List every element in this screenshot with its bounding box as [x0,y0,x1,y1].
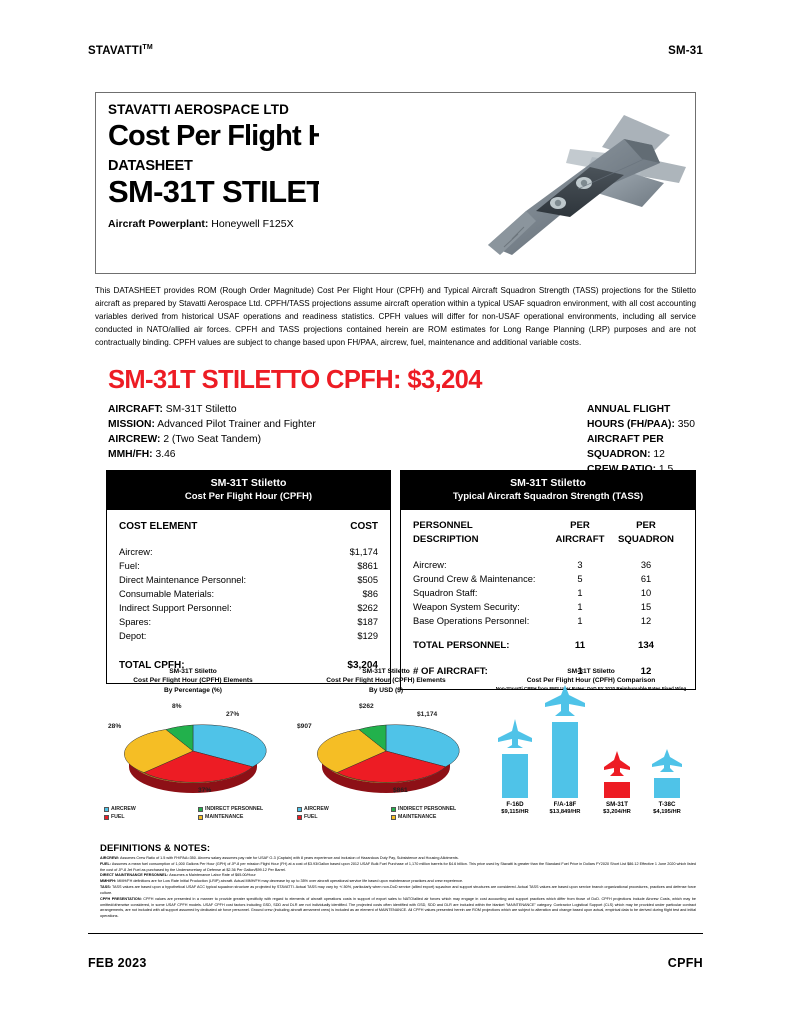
total-personnel-per-squadron: 134 [609,639,683,653]
spec-value: 3.46 [155,449,175,460]
pie-value-label: $907 [297,723,312,730]
definition-text: TASS values are based upon a hypothetica… [100,885,696,895]
legend-item: AIRCREW [297,806,385,812]
legend-swatch-aircrew [104,807,109,812]
legend-label: MAINTENANCE [205,814,243,820]
personnel-desc: Ground Crew & Maintenance: [413,573,551,587]
chart-cpfh-by-percentage: SM-31T Stiletto Cost Per Flight Hour (CP… [100,667,286,820]
spacer [413,548,683,559]
bar-value: $4,195/HR [644,809,690,817]
bar-label: SM-31T [594,801,640,809]
spec-row: AIRCREW: 2 (Two Seat Tandem) [108,433,402,448]
cost-element: Depot: [119,630,146,644]
cpfh-column-headers: COST ELEMENT COST [119,519,378,534]
definition-text: Assumes Crew Ratio of 1.5 with FH/PAA=35… [119,856,459,860]
definition-text: MMH/FH definitions are for Low Rate Init… [116,879,463,883]
legend-item: FUEL [297,814,385,820]
aircraft-render-image [474,105,689,265]
spec-value: Advanced Pilot Trainer and Fighter [155,419,316,430]
definition-item: CPFH PRESENTATION: CPFH values are prese… [100,897,696,920]
pie-value-label: $262 [359,703,374,710]
pie-value-label: 27% [226,711,239,718]
cost-element: Aircrew: [119,546,153,560]
legend-item: MAINTENANCE [391,814,479,820]
spec-row: MISSION: Advanced Pilot Trainer and Figh… [108,418,402,433]
tass-col-per-squadron: PERSQUADRON [609,519,683,548]
chart-subtitle-note: Non-Stavatti CPFH from FMS User Rates: D… [486,686,696,692]
personnel-desc: Base Operations Personnel: [413,615,551,629]
bar-value: $13,849/HR [542,809,588,817]
tass-table-title: SM-31T Stiletto [405,477,691,491]
per-aircraft: 5 [551,573,609,587]
personnel-desc: Weapon System Security: [413,601,551,615]
bar-fa18f [552,722,578,798]
personnel-desc: Squadron Staff: [413,587,551,601]
personnel-desc: Aircrew: [413,559,551,573]
chart-legend: AIRCREW INDIRECT PERSONNEL FUEL MAINTENA… [293,806,479,820]
cost-value: $1,174 [350,546,378,560]
cpfh-col-cost: COST [350,519,378,534]
per-squadron: 36 [609,559,683,573]
page-footer: FEB 2023 CPFH [88,956,703,970]
spec-label: ANNUAL FLIGHT HOURS (FH/PAA): [587,404,675,430]
tass-table-header: SM-31T Stiletto Typical Aircraft Squadro… [401,471,695,510]
table-row: Aircrew:$1,174 [119,546,378,560]
table-row: Direct Maintenance Personnel:$505 [119,574,378,588]
title-block: STAVATTI AEROSPACE LTD Cost Per Flight H… [95,92,319,274]
table-row: Spares:$187 [119,616,378,630]
definition-term: DIRECT MAINTENANCE PERSONNEL: [100,873,168,877]
cost-value: $262 [357,602,378,616]
cpfh-table-body: COST ELEMENT COST Aircrew:$1,174 Fuel:$8… [107,510,390,683]
cost-element: Fuel: [119,560,140,574]
spec-value: 2 (Two Seat Tandem) [163,434,261,445]
legend-label: AIRCREW [111,806,136,812]
definition-text: Assumes a Maintenance Labor Rate of $65.… [168,873,255,877]
table-row: Indirect Support Personnel:$262 [119,602,378,616]
definition-item: TASS: TASS values are based upon a hypot… [100,885,696,897]
per-squadron: 61 [609,573,683,587]
table-row: Consumable Materials:$86 [119,588,378,602]
footer-date: FEB 2023 [88,956,147,970]
bar-f16d [502,754,528,798]
total-personnel-label: TOTAL PERSONNEL: [413,639,551,653]
per-aircraft: 1 [551,587,609,601]
bar-group-fa18f: F/A-18F $13,849/HR [542,685,588,817]
definition-term: MMH/FH: [100,879,116,883]
legend-label: AIRCREW [304,806,329,812]
tass-table: SM-31T Stiletto Typical Aircraft Squadro… [400,470,696,690]
powerplant-line: Aircraft Powerplant: Honeywell F125X [108,218,319,230]
definition-text: CPFH values are presented in a manner to… [100,897,696,918]
spacer [413,654,683,665]
legend-swatch-maintenance [391,815,396,820]
cpfh-table-title: SM-31T Stiletto [111,477,386,491]
t38-jet-icon [644,749,690,773]
bar-group-sm31t: SM-31T $3,204/HR [594,751,640,817]
definitions-and-notes: DEFINITIONS & NOTES: AIRCREW: Assumes Cr… [100,843,696,920]
pie-value-label: $1,174 [417,711,437,718]
pie-plot-area: 27% 37% 28% 8% [100,699,286,802]
aircraft-model-title: SM-31T STILETTO [108,176,319,209]
legend-item: INDIRECT PERSONNEL [198,806,286,812]
legend-swatch-indirect-personnel [198,807,203,812]
cost-value: $505 [357,574,378,588]
bar-value: $9,115/HR [492,809,538,817]
company-name: STAVATTI AEROSPACE LTD [108,102,319,117]
page-header: STAVATTITM SM-31 [88,44,703,57]
legend-label: INDIRECT PERSONNEL [398,806,456,812]
spec-row: MMH/FH: 3.46 [108,448,402,463]
spec-value: 350 [678,419,695,430]
cpfh-table-subtitle: Cost Per Flight Hour (CPFH) [111,491,386,503]
cost-element: Consumable Materials: [119,588,214,602]
intro-paragraph: This DATASHEET provides ROM (Rough Order… [95,284,696,350]
header-doc-code: SM-31 [668,45,703,57]
spec-value: SM-31T Stiletto [166,404,237,415]
chart-legend: AIRCREW INDIRECT PERSONNEL FUEL MAINTENA… [100,806,286,820]
spec-row: AIRCRAFT PER SQUADRON: 12 [587,433,696,463]
title-block-image-panel [319,92,696,274]
legend-swatch-maintenance [198,815,203,820]
legend-item: AIRCREW [104,806,192,812]
per-aircraft: 1 [551,615,609,629]
header-brand: STAVATTITM [88,44,153,57]
bar-label: T-38C [644,801,690,809]
chart-title: SM-31T Stiletto Cost Per Flight Hour (CP… [486,667,696,686]
cost-value: $187 [357,616,378,630]
bar-group-t38c: T-38C $4,195/HR [644,749,690,817]
legend-swatch-fuel [104,815,109,820]
footer-divider [88,933,703,934]
bar-plot-area: F-16D $9,115/HR F/A-18F $13,849/HR SM-31… [486,698,696,816]
document-type: DATASHEET [108,158,319,174]
cpfh-col-element: COST ELEMENT [119,519,197,534]
tass-total-personnel-row: TOTAL PERSONNEL: 11 134 [413,639,683,653]
pie-value-label: 8% [172,703,182,710]
bar-sm31t [604,782,630,798]
chart-cpfh-comparison: SM-31T Stiletto Cost Per Flight Hour (CP… [486,667,696,816]
per-aircraft: 1 [551,601,609,615]
cost-element: Indirect Support Personnel: [119,602,232,616]
tass-column-headers: PERSONNELDESCRIPTION PERAIRCRAFT PERSQUA… [413,519,683,548]
per-squadron: 12 [609,615,683,629]
pie-plot-area: $1,174 $861 $907 $262 [293,699,479,802]
powerplant-value: Honeywell F125X [211,218,293,230]
table-row: Depot:$129 [119,630,378,644]
spec-label: AIRCRAFT: [108,404,163,415]
footer-doc-code: CPFH [668,956,703,970]
bar-value: $3,204/HR [594,809,640,817]
legend-swatch-indirect-personnel [391,807,396,812]
pie-value-label: $861 [393,787,408,794]
cost-element: Spares: [119,616,151,630]
pie-value-label: 37% [198,787,211,794]
definitions-heading: DEFINITIONS & NOTES: [100,843,696,854]
definition-text: Assumes a mean fuel consumption of 1,000… [100,862,696,872]
charts-strip: SM-31T Stiletto Cost Per Flight Hour (CP… [100,667,696,835]
total-personnel-per-aircraft: 11 [551,639,609,653]
legend-swatch-fuel [297,815,302,820]
powerplant-label: Aircraft Powerplant: [108,218,208,230]
spacer [413,628,683,639]
tass-table-subtitle: Typical Aircraft Squadron Strength (TASS… [405,491,691,503]
legend-label: INDIRECT PERSONNEL [205,806,263,812]
spec-row: AIRCRAFT: SM-31T Stiletto [108,403,402,418]
legend-item: INDIRECT PERSONNEL [391,806,479,812]
spec-value: 12 [651,449,665,460]
legend-label: FUEL [304,814,318,820]
page-title: Cost Per Flight Hour (CPFH) [108,121,319,151]
cost-value: $86 [362,588,378,602]
definition-term: FUEL: [100,862,111,866]
spec-label: MMH/FH: [108,449,153,460]
table-row: Fuel:$861 [119,560,378,574]
tass-rows: Aircrew: 3 36 Ground Crew & Maintenance:… [413,559,683,629]
legend-label: MAINTENANCE [398,814,436,820]
bar-label: F-16D [492,801,538,809]
tass-col-desc: PERSONNELDESCRIPTION [413,519,551,548]
bar-label: F/A-18F [542,801,588,809]
spec-label: AIRCREW: [108,434,160,445]
bar-t38c [654,778,680,798]
tass-col-per-aircraft: PERAIRCRAFT [551,519,609,548]
legend-item: FUEL [104,814,192,820]
cpfh-table-header: SM-31T Stiletto Cost Per Flight Hour (CP… [107,471,390,510]
sm31t-jet-icon [594,751,640,777]
legend-item: MAINTENANCE [198,814,286,820]
cost-value: $861 [357,560,378,574]
trademark-mark: TM [142,44,153,51]
per-squadron: 10 [609,587,683,601]
per-aircraft: 3 [551,559,609,573]
per-squadron: 15 [609,601,683,615]
pie-value-label: 28% [108,723,121,730]
definition-item: FUEL: Assumes a mean fuel consumption of… [100,862,696,874]
fa18-jet-icon [542,685,588,717]
spec-label: MISSION: [108,419,155,430]
f16-jet-icon [492,719,538,749]
spec-row: ANNUAL FLIGHT HOURS (FH/PAA): 350 [587,403,696,433]
definition-term: TASS: [100,885,111,889]
chart-title: SM-31T Stiletto Cost Per Flight Hour (CP… [100,667,286,695]
chart-title: SM-31T Stiletto Cost Per Flight Hour (CP… [293,667,479,695]
legend-label: FUEL [111,814,125,820]
legend-swatch-aircrew [297,807,302,812]
tass-table-body: PERSONNELDESCRIPTION PERAIRCRAFT PERSQUA… [401,510,695,689]
definition-term: AIRCREW: [100,856,119,860]
cpfh-headline: SM-31T STILETTO CPFH: $3,204 [108,366,482,395]
cost-element: Direct Maintenance Personnel: [119,574,246,588]
bar-group-f16d: F-16D $9,115/HR [492,719,538,817]
definition-term: CPFH PRESENTATION: [100,897,142,901]
cost-value: $129 [357,630,378,644]
chart-cpfh-by-usd: SM-31T Stiletto Cost Per Flight Hour (CP… [293,667,479,820]
cpfh-table: SM-31T Stiletto Cost Per Flight Hour (CP… [106,470,391,684]
